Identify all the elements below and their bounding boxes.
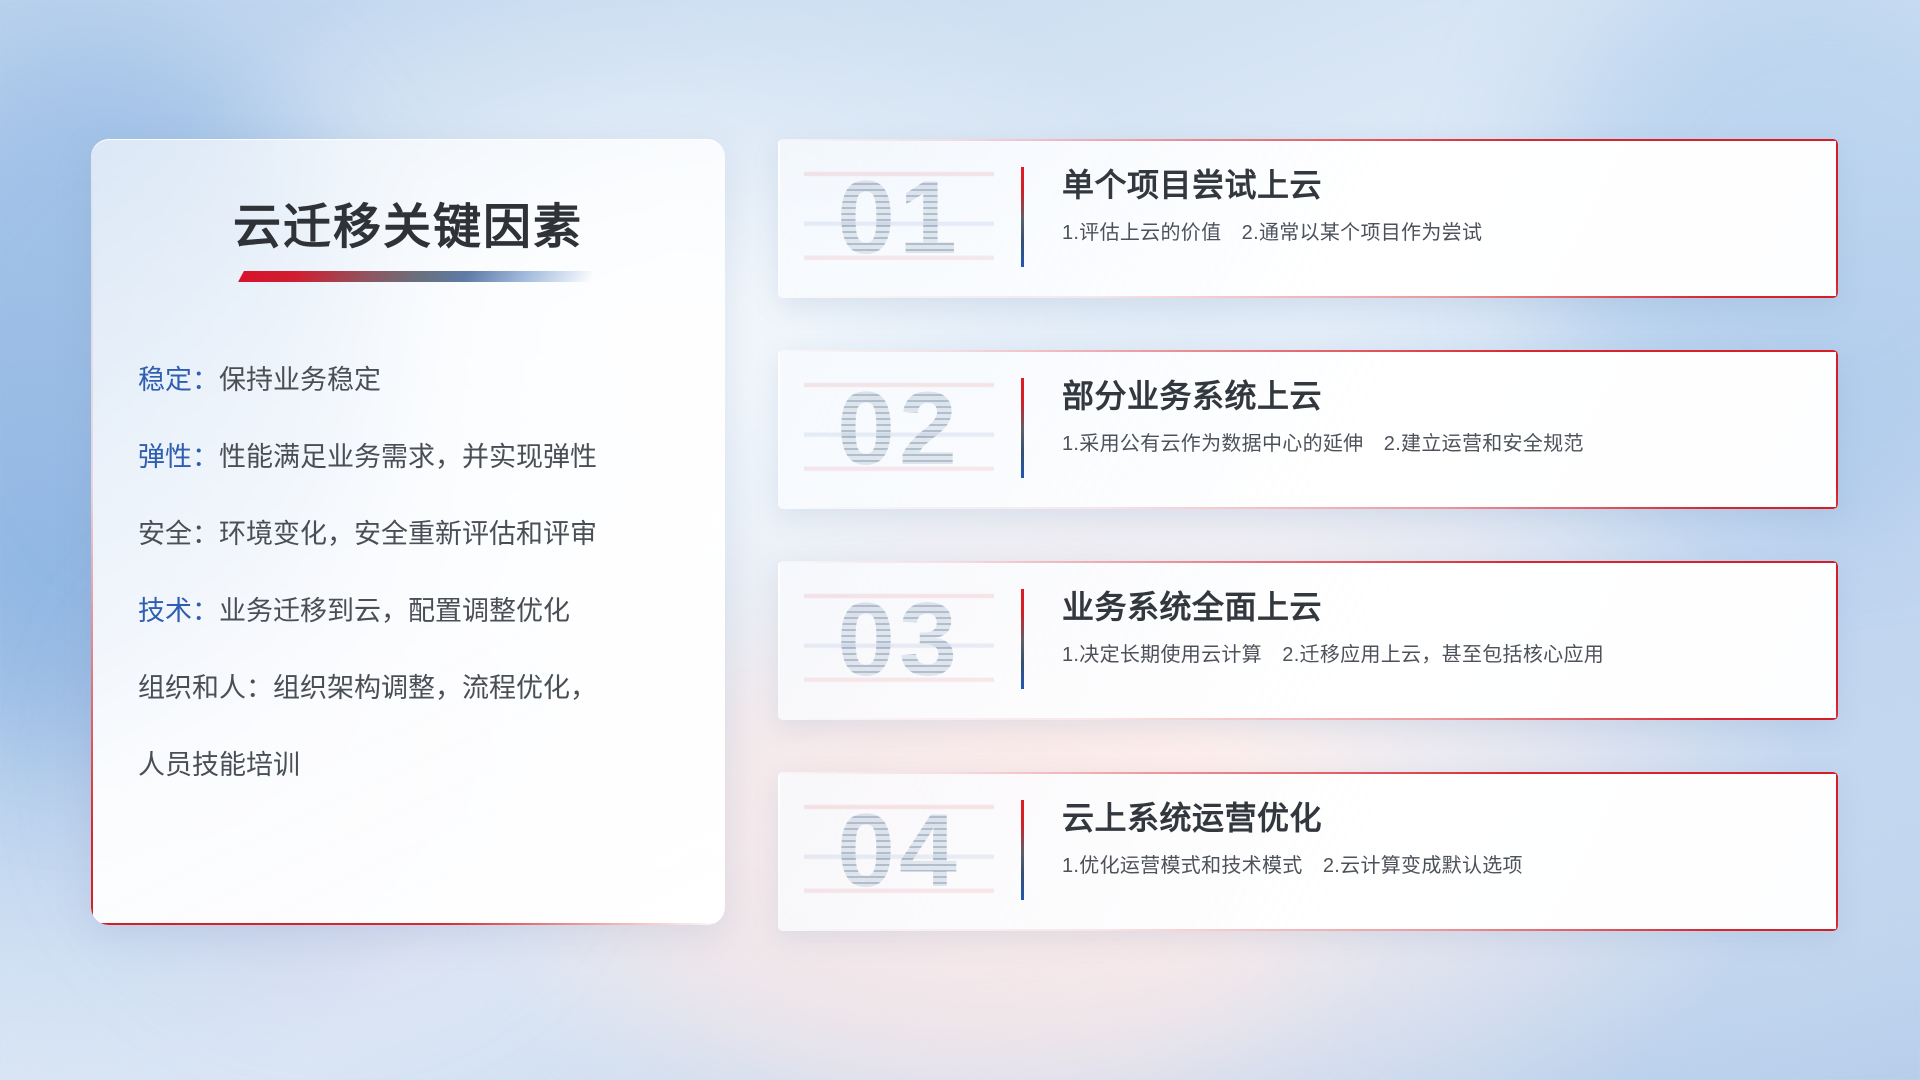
card-accent-edge-bottom: [778, 507, 1838, 509]
card-accent-edge-bottom: [778, 296, 1838, 298]
key-factor-label: 组织和人：: [138, 673, 273, 703]
card-divider: [1021, 800, 1024, 900]
key-factor-label: 弹性：: [138, 442, 219, 472]
migration-stage-card[interactable]: 04云上系统运营优化1.优化运营模式和技术模式 2.云计算变成默认选项: [778, 772, 1838, 931]
key-factor-line: 稳定：保持业务稳定: [138, 367, 698, 394]
card-title: 业务系统全面上云: [1062, 589, 1814, 626]
card-edge-left: [778, 772, 780, 931]
card-accent-edge-top: [778, 139, 1838, 141]
migration-stage-card[interactable]: 02部分业务系统上云1.采用公有云作为数据中心的延伸 2.建立运营和安全规范: [778, 350, 1838, 509]
card-accent-edge-right: [1836, 561, 1838, 720]
card-accent-edge-bottom: [778, 718, 1838, 720]
key-factor-text: 组织架构调整，流程优化，: [273, 673, 597, 703]
page-title: 云迁移关键因素: [91, 187, 725, 257]
key-factor-text: 人员技能培训: [138, 750, 300, 780]
card-subtitle: 1.采用公有云作为数据中心的延伸 2.建立运营和安全规范: [1062, 432, 1814, 456]
card-accent-edge-bottom: [778, 929, 1838, 931]
card-accent-edge-right: [1836, 350, 1838, 509]
card-body: 云上系统运营优化1.优化运营模式和技术模式 2.云计算变成默认选项: [1062, 800, 1814, 878]
card-accent-edge-right: [1836, 139, 1838, 298]
key-factor-label: 技术：: [138, 596, 219, 626]
key-factors-panel: 云迁移关键因素 稳定：保持业务稳定弹性：性能满足业务需求，并实现弹性安全：环境变…: [91, 139, 725, 925]
card-step-number: 01: [804, 147, 994, 289]
card-body: 业务系统全面上云1.决定长期使用云计算 2.迁移应用上云，甚至包括核心应用: [1062, 589, 1814, 667]
card-subtitle: 1.优化运营模式和技术模式 2.云计算变成默认选项: [1062, 854, 1814, 878]
key-factor-line: 人员技能培训: [138, 752, 698, 779]
panel-accent-edge-bottom: [91, 923, 725, 925]
card-title: 单个项目尝试上云: [1062, 167, 1814, 204]
card-step-number: 02: [804, 358, 994, 500]
migration-stage-card[interactable]: 03业务系统全面上云1.决定长期使用云计算 2.迁移应用上云，甚至包括核心应用: [778, 561, 1838, 720]
card-subtitle: 1.决定长期使用云计算 2.迁移应用上云，甚至包括核心应用: [1062, 643, 1814, 667]
card-edge-left: [778, 139, 780, 298]
key-factor-text: 环境变化，安全重新评估和评审: [219, 519, 597, 549]
migration-stage-card[interactable]: 01单个项目尝试上云1.评估上云的价值 2.通常以某个项目作为尝试: [778, 139, 1838, 298]
title-underline-bar: [238, 271, 596, 282]
key-factor-text: 性能满足业务需求，并实现弹性: [219, 442, 597, 472]
card-divider: [1021, 378, 1024, 478]
key-factor-text: 保持业务稳定: [219, 365, 381, 395]
card-body: 单个项目尝试上云1.评估上云的价值 2.通常以某个项目作为尝试: [1062, 167, 1814, 245]
card-step-number: 03: [804, 569, 994, 711]
key-factor-line: 安全：环境变化，安全重新评估和评审: [138, 521, 698, 548]
card-title: 部分业务系统上云: [1062, 378, 1814, 415]
card-accent-edge-right: [1836, 772, 1838, 931]
key-factor-line: 技术：业务迁移到云，配置调整优化: [138, 598, 698, 625]
card-accent-edge-top: [778, 772, 1838, 774]
key-factor-line: 组织和人：组织架构调整，流程优化，: [138, 675, 698, 702]
key-factors-list: 稳定：保持业务稳定弹性：性能满足业务需求，并实现弹性安全：环境变化，安全重新评估…: [138, 367, 698, 829]
key-factor-text: 业务迁移到云，配置调整优化: [219, 596, 570, 626]
card-divider: [1021, 167, 1024, 267]
card-body: 部分业务系统上云1.采用公有云作为数据中心的延伸 2.建立运营和安全规范: [1062, 378, 1814, 456]
migration-stage-card-list: 01单个项目尝试上云1.评估上云的价值 2.通常以某个项目作为尝试02部分业务系…: [778, 139, 1838, 983]
card-edge-left: [778, 350, 780, 509]
key-factor-label: 稳定：: [138, 365, 219, 395]
card-accent-edge-top: [778, 561, 1838, 563]
card-step-number: 04: [804, 780, 994, 922]
key-factor-label: 安全：: [138, 519, 219, 549]
card-edge-left: [778, 561, 780, 720]
card-title: 云上系统运营优化: [1062, 800, 1814, 837]
key-factor-line: 弹性：性能满足业务需求，并实现弹性: [138, 444, 698, 471]
card-accent-edge-top: [778, 350, 1838, 352]
card-subtitle: 1.评估上云的价值 2.通常以某个项目作为尝试: [1062, 221, 1814, 245]
card-divider: [1021, 589, 1024, 689]
